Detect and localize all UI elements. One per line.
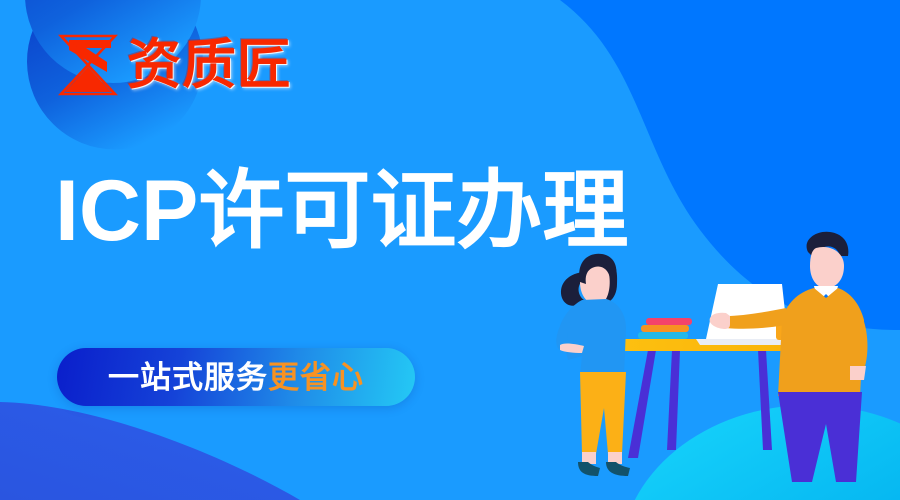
woman-shoe-left bbox=[578, 462, 600, 476]
man-pants bbox=[778, 392, 862, 482]
z-hourglass-mark-icon bbox=[57, 32, 119, 98]
desk-leg-back-left bbox=[667, 350, 680, 450]
woman-standing bbox=[556, 254, 630, 476]
page-title: ICP许可证办理 bbox=[55, 168, 628, 254]
man-head bbox=[810, 247, 844, 288]
book-pink bbox=[646, 318, 692, 325]
woman-shoe-right bbox=[606, 462, 630, 476]
subtitle-primary: 一站式服务 bbox=[108, 362, 268, 393]
book-cyan bbox=[638, 332, 688, 339]
subtitle-text: 一站式服务 更省心 bbox=[108, 362, 364, 393]
woman-pants bbox=[580, 372, 626, 454]
man-hand-hip bbox=[850, 366, 866, 380]
book-orange bbox=[641, 325, 689, 332]
man-pointing bbox=[710, 232, 868, 482]
desk-leg-back-right bbox=[758, 350, 772, 450]
desk-leg-front-left bbox=[628, 350, 656, 458]
woman-top bbox=[560, 299, 626, 376]
brand-wordmark: 资质匠 bbox=[127, 38, 292, 92]
book-stack bbox=[638, 318, 692, 339]
promo-banner: 资质匠 ICP许可证办理 一站式服务 更省心 bbox=[0, 0, 900, 500]
subtitle-highlight: 更省心 bbox=[268, 362, 364, 393]
subtitle-pill: 一站式服务 更省心 bbox=[57, 348, 415, 406]
brand-logo: 资质匠 bbox=[57, 32, 292, 98]
